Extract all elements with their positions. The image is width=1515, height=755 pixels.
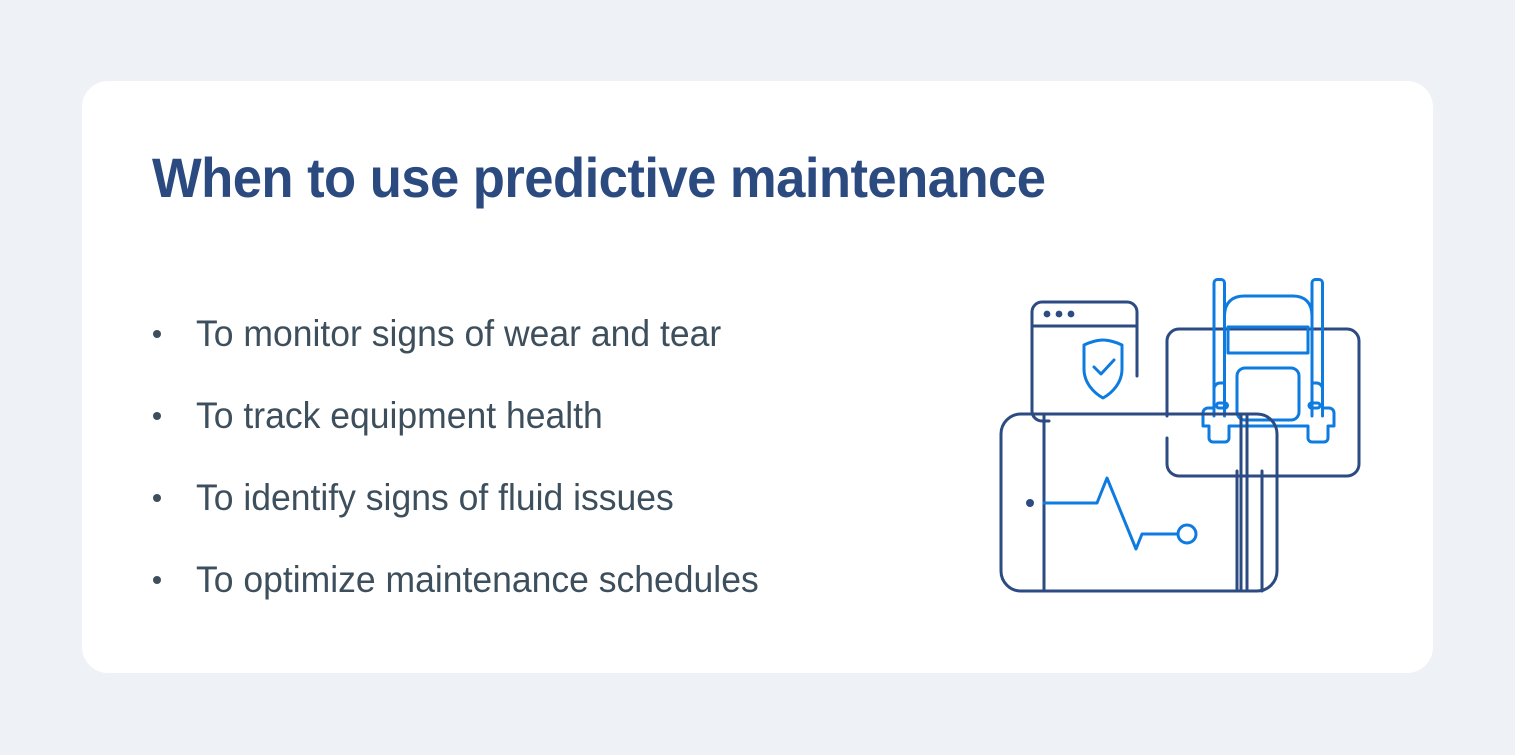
tablet-camera-dot	[1026, 499, 1034, 507]
list-item-label: To optimize maintenance schedules	[196, 558, 759, 602]
list-item-label: To identify signs of fluid issues	[196, 476, 674, 520]
chart-end-marker	[1178, 525, 1196, 543]
bullet-dot-icon	[153, 494, 161, 502]
vitals-line-chart	[1044, 478, 1177, 549]
predictive-maintenance-illustration	[937, 266, 1397, 616]
truck-card	[1167, 329, 1359, 476]
list-item-label: To monitor signs of wear and tear	[196, 312, 721, 356]
list-item: To track equipment health	[152, 375, 952, 457]
list-item-label: To track equipment health	[196, 394, 603, 438]
page-root: When to use predictive maintenance To mo…	[0, 0, 1515, 755]
page-title: When to use predictive maintenance	[152, 146, 1045, 210]
bullet-dot-icon	[153, 412, 161, 420]
list-item: To monitor signs of wear and tear	[152, 293, 952, 375]
bullet-dot-icon	[153, 576, 161, 584]
shield-check-icon	[1084, 340, 1122, 398]
list-item: To identify signs of fluid issues	[152, 457, 952, 539]
window-dots	[1044, 311, 1075, 318]
content-card: When to use predictive maintenance To mo…	[82, 81, 1433, 673]
use-case-list: To monitor signs of wear and tear To tra…	[152, 293, 952, 621]
list-item: To optimize maintenance schedules	[152, 539, 952, 621]
bullet-dot-icon	[153, 330, 161, 338]
